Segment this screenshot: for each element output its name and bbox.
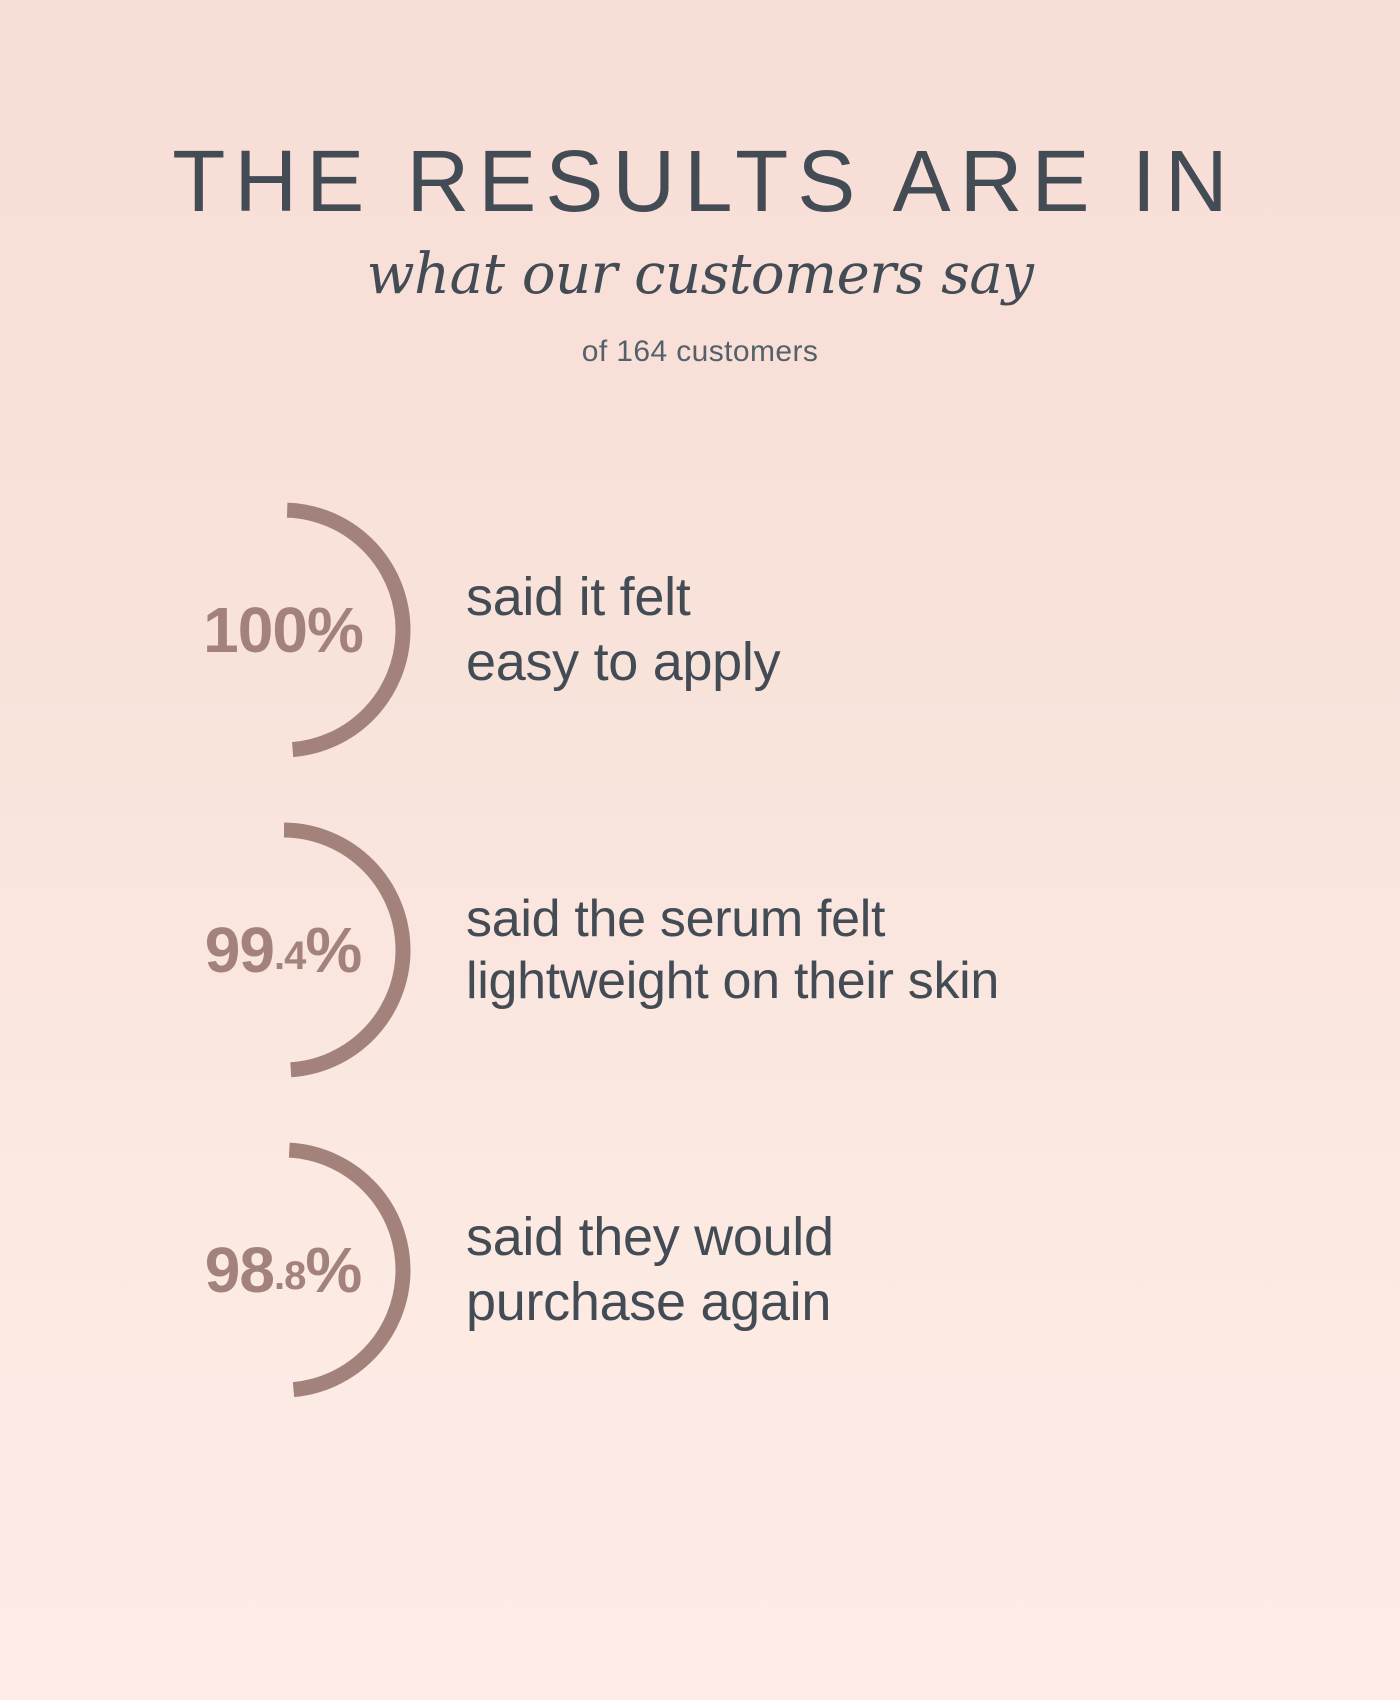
stat-value-percent-sign: %: [305, 918, 361, 982]
stat-row: 100% said it felt easy to apply: [0, 470, 1400, 790]
sample-size-text: of 164 customers: [0, 335, 1400, 369]
stat-description-line: easy to apply: [466, 630, 780, 695]
stat-value-fraction: .4: [274, 936, 305, 976]
stat-description-line: said the serum felt: [466, 888, 999, 950]
stat-description: said it felt easy to apply: [466, 565, 780, 695]
stat-list: 100% said it felt easy to apply 99.4% sa…: [0, 470, 1400, 1430]
stat-description-line: said it felt: [466, 565, 780, 630]
results-infographic: THE RESULTS ARE IN what our customers sa…: [0, 0, 1400, 1700]
stat-description-line: lightweight on their skin: [466, 950, 999, 1012]
stat-description-line: purchase again: [466, 1270, 834, 1335]
progress-ring: 99.4%: [152, 819, 414, 1081]
stat-value: 98.8%: [152, 1139, 414, 1401]
stat-value-whole: 98: [205, 1238, 274, 1302]
stat-value-percent-sign: %: [307, 598, 363, 662]
progress-ring: 100%: [152, 499, 414, 761]
header: THE RESULTS ARE IN what our customers sa…: [0, 0, 1400, 369]
stat-description-line: said they would: [466, 1205, 834, 1270]
stat-value: 99.4%: [152, 819, 414, 1081]
stat-row: 98.8% said they would purchase again: [0, 1110, 1400, 1430]
stat-value-whole: 99: [205, 918, 274, 982]
stat-description: said they would purchase again: [466, 1205, 834, 1335]
stat-description: said the serum felt lightweight on their…: [466, 888, 999, 1013]
subtitle: what our customers say: [0, 247, 1400, 303]
progress-ring: 98.8%: [152, 1139, 414, 1401]
stat-value-fraction: .8: [274, 1256, 305, 1296]
stat-value: 100%: [152, 499, 414, 761]
page-title: THE RESULTS ARE IN: [0, 138, 1400, 225]
stat-row: 99.4% said the serum felt lightweight on…: [0, 790, 1400, 1110]
stat-value-whole: 100: [203, 598, 307, 662]
stat-value-percent-sign: %: [305, 1238, 361, 1302]
